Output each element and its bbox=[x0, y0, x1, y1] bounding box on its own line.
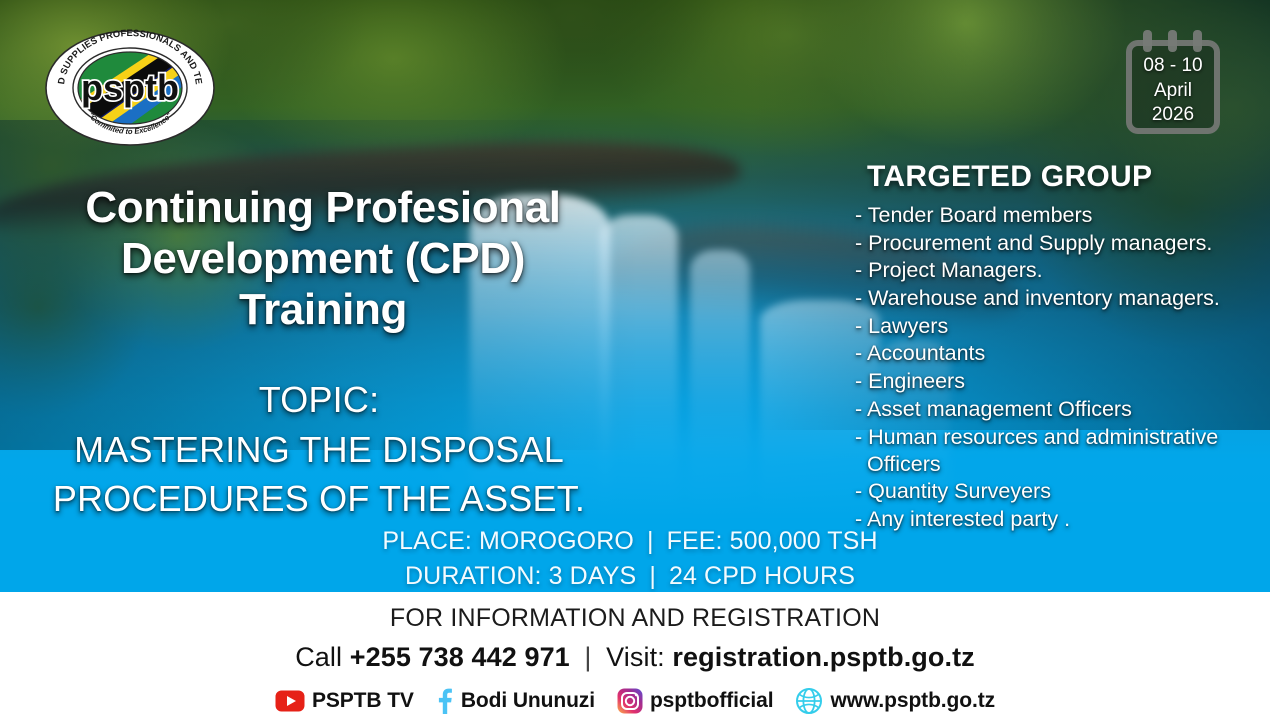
social-facebook[interactable]: Bodi Ununuzi bbox=[436, 688, 595, 714]
poster-root: PROCUREMENT AND SUPPLIES PROFESSIONALS A… bbox=[0, 0, 1270, 714]
topic-line-1: MASTERING THE DISPOSAL bbox=[24, 425, 614, 475]
detail-separator-2: | bbox=[643, 562, 662, 590]
detail-duration: DURATION: 3 DAYS bbox=[405, 562, 636, 590]
calendar-ring-2 bbox=[1168, 30, 1177, 52]
headline-line-1: Continuing Profesional bbox=[28, 182, 618, 233]
headline-line-3: Training bbox=[28, 284, 618, 335]
date-text: 08 - 10 April 2026 bbox=[1126, 54, 1220, 128]
psptb-logo: PROCUREMENT AND SUPPLIES PROFESSIONALS A… bbox=[44, 28, 216, 148]
date-days: 08 - 10 bbox=[1126, 54, 1220, 79]
detail-place: PLACE: MOROGORO bbox=[382, 527, 634, 555]
list-item: - Engineers bbox=[855, 368, 1267, 395]
detail-separator-1: | bbox=[641, 527, 660, 555]
footer: FOR INFORMATION AND REGISTRATION Call +2… bbox=[0, 592, 1270, 714]
globe-icon bbox=[795, 687, 823, 714]
visit-label: Visit: bbox=[606, 642, 665, 672]
social-label-website: www.psptb.go.tz bbox=[830, 689, 995, 713]
calendar-ring-3 bbox=[1193, 30, 1202, 52]
date-year: 2026 bbox=[1126, 103, 1220, 128]
phone-number[interactable]: +255 738 442 971 bbox=[350, 642, 570, 672]
list-item: - Tender Board members bbox=[855, 202, 1267, 229]
instagram-icon bbox=[617, 688, 643, 714]
logo-acronym: psptb bbox=[81, 67, 179, 108]
list-item: - Project Managers. bbox=[855, 257, 1267, 284]
list-item: - Any interested party . bbox=[855, 506, 1267, 533]
topic-block: TOPIC: MASTERING THE DISPOSAL PROCEDURES… bbox=[24, 375, 614, 524]
list-item: - Warehouse and inventory managers. bbox=[855, 285, 1267, 312]
targeted-group-heading: TARGETED GROUP bbox=[855, 160, 1267, 194]
list-item: - Lawyers bbox=[855, 313, 1267, 340]
list-item: - Human resources and administrative Off… bbox=[855, 424, 1267, 478]
social-website[interactable]: www.psptb.go.tz bbox=[795, 687, 995, 714]
details-row-2: DURATION: 3 DAYS | 24 CPD HOURS bbox=[300, 559, 960, 594]
headline-line-2: Development (CPD) bbox=[28, 233, 618, 284]
social-links: PSPTB TV Bodi Ununuzi bbox=[0, 671, 1270, 714]
social-label-youtube: PSPTB TV bbox=[312, 689, 414, 713]
calendar-ring-1 bbox=[1143, 30, 1152, 52]
topic-line-2: PROCEDURES OF THE ASSET. bbox=[24, 474, 614, 524]
list-item: - Asset management Officers bbox=[855, 396, 1267, 423]
list-item: - Quantity Surveyers bbox=[855, 478, 1267, 505]
registration-link[interactable]: registration.psptb.go.tz bbox=[672, 642, 974, 672]
detail-cpd-hours: 24 CPD HOURS bbox=[669, 562, 855, 590]
topic-label: TOPIC: bbox=[24, 375, 614, 425]
footer-separator: | bbox=[577, 642, 598, 672]
list-item: - Procurement and Supply managers. bbox=[855, 230, 1267, 257]
call-label: Call bbox=[295, 642, 342, 672]
targeted-group-list: - Tender Board members - Procurement and… bbox=[855, 202, 1267, 533]
social-youtube[interactable]: PSPTB TV bbox=[275, 689, 414, 713]
detail-fee: FEE: 500,000 TSH bbox=[667, 527, 878, 555]
youtube-icon bbox=[275, 690, 305, 712]
footer-contact-line: Call +255 738 442 971 | Visit: registrat… bbox=[0, 631, 1270, 671]
social-instagram[interactable]: psptbofficial bbox=[617, 688, 774, 714]
footer-info-heading: FOR INFORMATION AND REGISTRATION bbox=[0, 592, 1270, 631]
social-label-facebook: Bodi Ununuzi bbox=[461, 689, 595, 713]
targeted-group-section: TARGETED GROUP - Tender Board members - … bbox=[855, 160, 1267, 534]
date-month: April bbox=[1126, 79, 1220, 104]
date-badge: 08 - 10 April 2026 bbox=[1126, 30, 1220, 134]
social-label-instagram: psptbofficial bbox=[650, 689, 774, 713]
event-details: PLACE: MOROGORO | FEE: 500,000 TSH DURAT… bbox=[300, 524, 960, 593]
page-title: Continuing Profesional Development (CPD)… bbox=[28, 182, 618, 335]
list-item: - Accountants bbox=[855, 340, 1267, 367]
facebook-icon bbox=[436, 688, 454, 714]
